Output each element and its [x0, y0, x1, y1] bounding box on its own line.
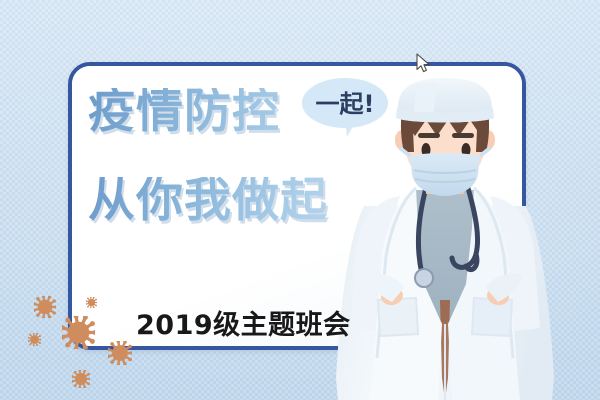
virus-particle-5	[108, 341, 132, 370]
mouse-pointer-icon	[416, 53, 432, 80]
virus-particle-4	[86, 295, 97, 313]
event-caption: 2019级主题班会	[136, 303, 351, 342]
surgical-cap	[396, 78, 494, 123]
virus-particle-3	[62, 316, 95, 354]
lab-coat	[336, 188, 554, 400]
doctor-head	[395, 78, 495, 196]
stethoscope-chestpiece	[415, 269, 433, 287]
speech-bubble-text: 一起!	[302, 78, 388, 128]
speech-bubble: 一起!	[302, 78, 388, 128]
poster-canvas: 疫情防控 从你我做起 一起! 2019级主题班会	[0, 0, 600, 400]
virus-particle-2	[28, 333, 41, 351]
virus-particle-6	[72, 370, 90, 393]
virus-particle-1	[34, 296, 56, 323]
